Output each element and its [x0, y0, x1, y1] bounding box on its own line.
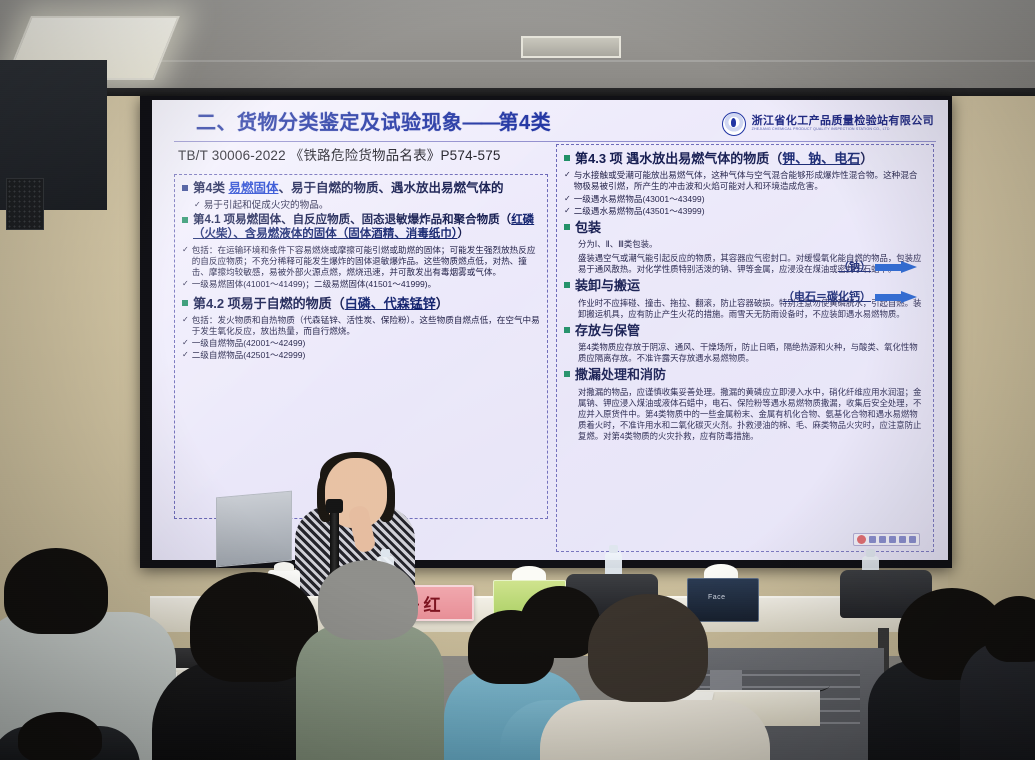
check-tick-icon: ✓	[182, 279, 189, 289]
presentation-slide: 二、货物分类鉴定及试验现象——第4类 浙江省化工产品质量检验站有限公司 ZHEJ…	[152, 100, 948, 560]
check-tick-icon: ✓	[182, 315, 189, 325]
audience-torso	[296, 624, 444, 760]
back-wall-right	[948, 96, 1035, 656]
class-42-detail: ✓ 包括：发火物质和自热物质（代森锰锌、活性炭、保险粉）。这些物质自燃点低，在空…	[182, 315, 540, 337]
bullet-square-icon	[564, 282, 570, 288]
class-42-heading: 第4.2 项易于自燃的物质（白磷、代森锰锌）	[193, 296, 449, 312]
slide-title-main: 二、货物分类鉴定及试验现象	[196, 112, 463, 134]
presenter-laptop	[216, 491, 292, 568]
spill-body: 对撒漏的物品，应谨慎收集妥善处理。撒漏的黄磷应立即浸入水中，硝化纤维应用水润湿；…	[578, 387, 926, 442]
right-arrow-icon	[875, 291, 917, 304]
audience-head	[588, 594, 708, 702]
class-4-heading-a: 第4类	[193, 181, 228, 195]
class-4-heading-highlight: 易燃固体	[228, 181, 278, 195]
check-tick-icon: ✓	[564, 206, 571, 216]
class-43-code-level1-text: 一级遇水易燃物品(43001～43499)	[574, 194, 705, 205]
ink-pen-icon[interactable]	[857, 535, 866, 544]
slide-right-column: 第4.3 项 遇水放出易燃气体的物质（钾、钠、电石） ✓ 与水接触或受潮可能放出…	[556, 144, 934, 552]
class-42-code-level2: ✓ 二级自燃物品(42501～42999)	[182, 350, 540, 361]
bullet-packaging: 包装	[564, 220, 926, 236]
bullet-class-42: 第4.2 项易于自燃的物质（白磷、代森锰锌）	[182, 296, 540, 312]
storage-body: 第4类物质应存放于阴凉、通风、干燥场所，防止日晒，隔绝热源和火种，与酸类、氧化性…	[578, 342, 926, 364]
slide-title-tail: 第4类	[499, 112, 552, 134]
packaging-heading: 包装	[575, 220, 601, 236]
class-42-code-level2-text: 二级自燃物品(42501～42999)	[192, 350, 306, 361]
header-divider	[174, 141, 936, 142]
loading-heading: 装卸与搬运	[575, 278, 640, 294]
class-41-heading-b: ）	[458, 228, 470, 240]
bullet-storage: 存放与保管	[564, 323, 926, 339]
audience-head	[18, 712, 102, 760]
class-4-check-text: 易于引起和促成火灾的物品。	[204, 200, 329, 212]
bullet-square-icon	[564, 224, 570, 230]
class-41-codes: ✓ 一级易燃固体(41001～41499)；二级易燃固体(41501～41999…	[182, 279, 540, 290]
ink-close-icon[interactable]	[909, 536, 916, 543]
class-42-heading-b: ）	[436, 296, 449, 311]
slide-header: 二、货物分类鉴定及试验现象——第4类 浙江省化工产品质量检验站有限公司 ZHEJ…	[152, 100, 948, 144]
company-logo: 浙江省化工产品质量检验站有限公司 ZHEJIANG CHEMICAL PRODU…	[722, 112, 934, 136]
class-43-detail: ✓ 与水接触或受潮可能放出易燃气体，这种气体与空气混合能够形成爆炸性混合物。这种…	[564, 170, 926, 192]
class-43-heading: 第4.3 项 遇水放出易燃气体的物质（钾、钠、电石）	[575, 151, 873, 167]
annotation-carbide-label: （电石＝碳化钙）	[783, 291, 871, 304]
annotation-sodium-label: （钠）	[838, 261, 871, 274]
ink-undo-icon[interactable]	[889, 536, 896, 543]
class-43-heading-b: ）	[860, 151, 873, 166]
packaging-line-1: 分为Ⅰ、Ⅱ、Ⅲ类包装。	[578, 239, 926, 250]
audience-head	[4, 548, 108, 634]
annotation-sodium: （钠）	[838, 261, 917, 274]
check-tick-icon: ✓	[182, 245, 189, 255]
wall-speaker	[6, 178, 44, 230]
bullet-square-icon	[182, 217, 188, 223]
slide-title: 二、货物分类鉴定及试验现象——第4类	[196, 111, 551, 135]
bullet-class-43: 第4.3 项 遇水放出易燃气体的物质（钾、钠、电石）	[564, 151, 926, 167]
class-41-heading-a: 第4.1 项易燃固体、自反应物质、固态退敏爆炸品和聚合物质（	[193, 214, 511, 226]
company-name-en: ZHEJIANG CHEMICAL PRODUCT QUALITY INSPEC…	[752, 128, 934, 132]
projection-screen[interactable]: 二、货物分类鉴定及试验现象——第4类 浙江省化工产品质量检验站有限公司 ZHEJ…	[152, 100, 948, 560]
company-emblem-icon	[722, 112, 746, 136]
check-tick-icon: ✓	[194, 200, 201, 210]
bullet-class-4: 第4类 易燃固体、易于自燃的物质、遇水放出易燃气体的	[182, 181, 540, 197]
audience-head	[318, 560, 418, 640]
class-42-heading-highlight: 白磷、代森锰锌	[345, 296, 436, 311]
bullet-square-icon	[564, 371, 570, 377]
classroom-photo-scene: 二、货物分类鉴定及试验现象——第4类 浙江省化工产品质量检验站有限公司 ZHEJ…	[0, 0, 1035, 760]
storage-heading: 存放与保管	[575, 323, 640, 339]
bullet-square-icon	[564, 155, 570, 161]
bullet-square-icon	[182, 300, 188, 306]
class-43-detail-text: 与水接触或受潮可能放出易燃气体，这种气体与空气混合能够形成爆炸性混合物。这种混合…	[574, 170, 926, 192]
class-42-code-level1-text: 一级自燃物品(42001～42499)	[192, 338, 306, 349]
class-4-heading: 第4类 易燃固体、易于自燃的物质、遇水放出易燃气体的	[193, 181, 503, 197]
check-tick-icon: ✓	[564, 194, 571, 204]
tissue-box-dark: Face	[687, 578, 759, 622]
ink-laser-icon[interactable]	[899, 536, 906, 543]
class-4-check-line: ✓ 易于引起和促成火灾的物品。	[194, 200, 540, 212]
bullet-square-icon	[564, 327, 570, 333]
class-41-codes-text: 一级易燃固体(41001～41499)；二级易燃固体(41501～41999)。	[192, 279, 437, 290]
check-tick-icon: ✓	[182, 338, 189, 348]
company-logo-text: 浙江省化工产品质量检验站有限公司 ZHEJIANG CHEMICAL PRODU…	[752, 116, 934, 131]
floating-ink-toolbar[interactable]	[853, 533, 920, 546]
ink-eraser-icon[interactable]	[879, 536, 886, 543]
class-42-detail-text: 包括：发火物质和自热物质（代森锰锌、活性炭、保险粉）。这些物质自燃点低，在空气中…	[192, 315, 540, 337]
class-43-heading-highlight: 钾、钠、电石	[782, 151, 860, 166]
annotation-carbide: （电石＝碳化钙）	[783, 291, 917, 304]
class-41-heading: 第4.1 项易燃固体、自反应物质、固态退敏爆炸品和聚合物质（红磷（火柴）、含易燃…	[193, 213, 540, 242]
audience-torso	[540, 700, 770, 760]
standard-reference: TB/T 30006-2022 《铁路危险货物品名表》P574-575	[178, 148, 501, 164]
tissue-box-label: Face	[708, 594, 726, 601]
class-42-heading-a: 第4.2 项易于自燃的物质（	[193, 296, 345, 311]
class-43-code-level2: ✓ 二级遇水易燃物品(43501～43999)	[564, 206, 926, 217]
class-4-heading-b: 、易于自燃的物质、遇水放出易燃气体的	[278, 181, 503, 195]
check-tick-icon: ✓	[182, 350, 189, 360]
ink-marker-icon[interactable]	[869, 536, 876, 543]
class-43-code-level1: ✓ 一级遇水易燃物品(43001～43499)	[564, 194, 926, 205]
bullet-class-41: 第4.1 项易燃固体、自反应物质、固态退敏爆炸品和聚合物质（红磷（火柴）、含易燃…	[182, 213, 540, 242]
class-42-code-level1: ✓ 一级自燃物品(42001～42499)	[182, 338, 540, 349]
ceiling-air-vent	[521, 36, 621, 58]
spill-heading: 撒漏处理和消防	[575, 367, 666, 383]
bullet-spill: 撒漏处理和消防	[564, 367, 926, 383]
slide-title-dash: ——	[463, 112, 499, 134]
class-41-detail-text: 包括：在运输环境和条件下容易燃烧或摩擦可能引燃或助燃的固体；可能发生强烈放热反应…	[192, 245, 540, 279]
right-arrow-icon	[875, 261, 917, 274]
class-43-heading-a: 第4.3 项 遇水放出易燃气体的物质（	[575, 151, 782, 166]
check-tick-icon: ✓	[564, 170, 571, 180]
class-41-detail: ✓ 包括：在运输环境和条件下容易燃烧或摩擦可能引燃或助燃的固体；可能发生强烈放热…	[182, 245, 540, 279]
class-43-code-level2-text: 二级遇水易燃物品(43501～43999)	[574, 206, 705, 217]
bullet-square-icon	[182, 185, 188, 191]
